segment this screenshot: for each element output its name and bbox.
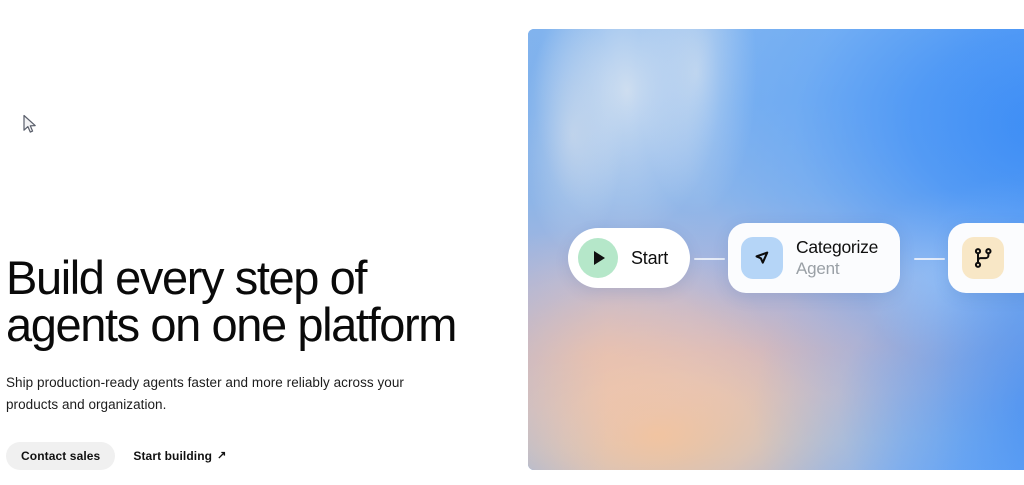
cursor-pointer-icon <box>741 237 783 279</box>
flow-node-categorize-text: Categorize Agent <box>796 238 878 278</box>
arrow-up-right-icon: ↗ <box>217 450 226 461</box>
agent-flow-diagram: Start Categorize Agent <box>528 199 1024 319</box>
flow-node-branch[interactable] <box>948 223 1024 293</box>
start-building-link[interactable]: Start building ↗ <box>133 449 226 463</box>
hero-content: Build every step of agents on one platfo… <box>6 254 506 470</box>
flow-connector-1 <box>694 258 725 260</box>
page-title: Build every step of agents on one platfo… <box>6 254 506 348</box>
hero-section: Build every step of agents on one platfo… <box>0 0 520 485</box>
hero-actions: Contact sales Start building ↗ <box>6 442 506 470</box>
git-branch-icon <box>962 237 1004 279</box>
flow-node-categorize-title: Categorize <box>796 238 878 258</box>
landing-page-hero: Build every step of agents on one platfo… <box>0 0 1024 485</box>
flow-node-start-label: Start <box>631 248 668 269</box>
flow-node-categorize-subtitle: Agent <box>796 259 878 278</box>
flow-connector-2 <box>914 258 945 260</box>
flow-node-start[interactable]: Start <box>568 228 690 288</box>
hero-subtitle: Ship production-ready agents faster and … <box>6 372 438 416</box>
flow-node-categorize[interactable]: Categorize Agent <box>728 223 900 293</box>
contact-sales-button[interactable]: Contact sales <box>6 442 115 470</box>
start-building-label: Start building <box>133 449 212 463</box>
hero-media-panel: Start Categorize Agent <box>528 29 1024 470</box>
play-icon <box>578 238 618 278</box>
